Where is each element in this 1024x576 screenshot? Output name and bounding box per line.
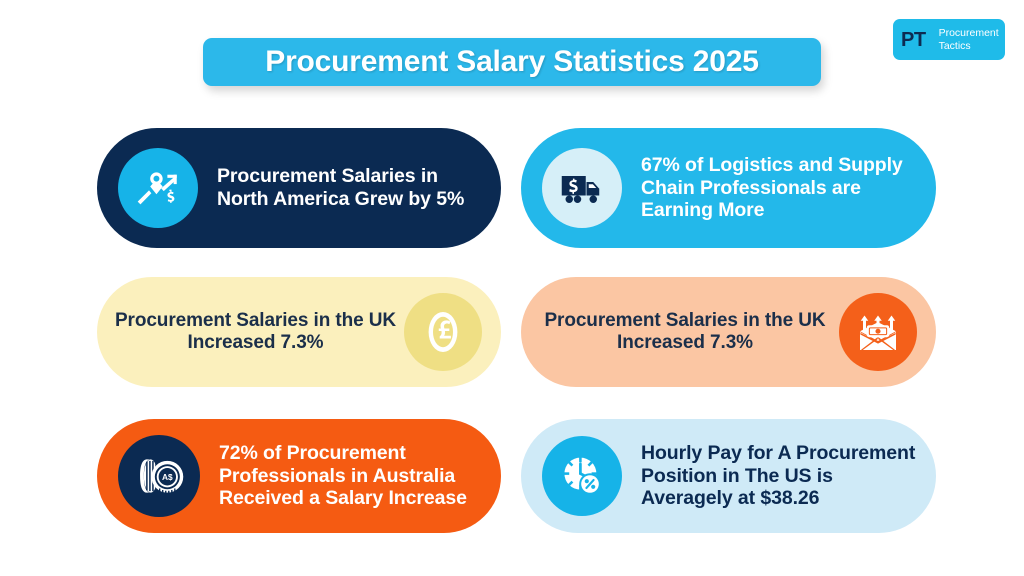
logo-wordmark-line-1: Procurement xyxy=(939,27,999,40)
title-banner: Procurement Salary Statistics 2025 xyxy=(203,38,821,86)
logo-wordmark-line-2: Tactics xyxy=(939,40,999,53)
delivery-truck-dollar-icon xyxy=(542,148,622,228)
stat-card-text: 72% of Procurement Professionals in Aust… xyxy=(219,442,485,510)
infographic-canvas: PT Procurement Tactics Procurement Salar… xyxy=(0,0,1024,576)
stat-card-uk-yellow[interactable]: Procurement Salaries in the UK Increased… xyxy=(97,277,501,387)
salary-growth-person-icon xyxy=(118,148,198,228)
svg-text:A$: A$ xyxy=(162,472,173,482)
stat-card-logistics[interactable]: 67% of Logistics and Supply Chain Profes… xyxy=(521,128,936,248)
stat-card-text: Procurement Salaries in the UK Increased… xyxy=(97,310,404,354)
stat-card-uk-peach[interactable]: Procurement Salaries in the UK Increased… xyxy=(521,277,936,387)
brand-logo[interactable]: PT Procurement Tactics xyxy=(893,19,1005,60)
stat-card-australia[interactable]: A$ 72% of Procurement Professionals in A… xyxy=(97,419,501,533)
stat-card-text: Procurement Salaries in the UK Increased… xyxy=(521,310,839,354)
envelope-money-arrows-icon xyxy=(839,293,917,371)
pound-coin-icon xyxy=(404,293,482,371)
stat-card-us-hourly-pay[interactable]: Hourly Pay for A Procurement Position in… xyxy=(521,419,936,533)
clock-percent-icon xyxy=(542,436,622,516)
logo-monogram: PT xyxy=(901,30,933,50)
australian-dollar-coins-icon: A$ xyxy=(118,435,200,517)
stat-card-text: 67% of Logistics and Supply Chain Profes… xyxy=(641,154,920,222)
stat-card-text: Procurement Salaries in North America Gr… xyxy=(217,165,485,211)
page-title: Procurement Salary Statistics 2025 xyxy=(265,45,758,79)
logo-wordmark: Procurement Tactics xyxy=(939,27,999,52)
stat-card-north-america[interactable]: Procurement Salaries in North America Gr… xyxy=(97,128,501,248)
stat-card-text: Hourly Pay for A Procurement Position in… xyxy=(641,442,920,510)
